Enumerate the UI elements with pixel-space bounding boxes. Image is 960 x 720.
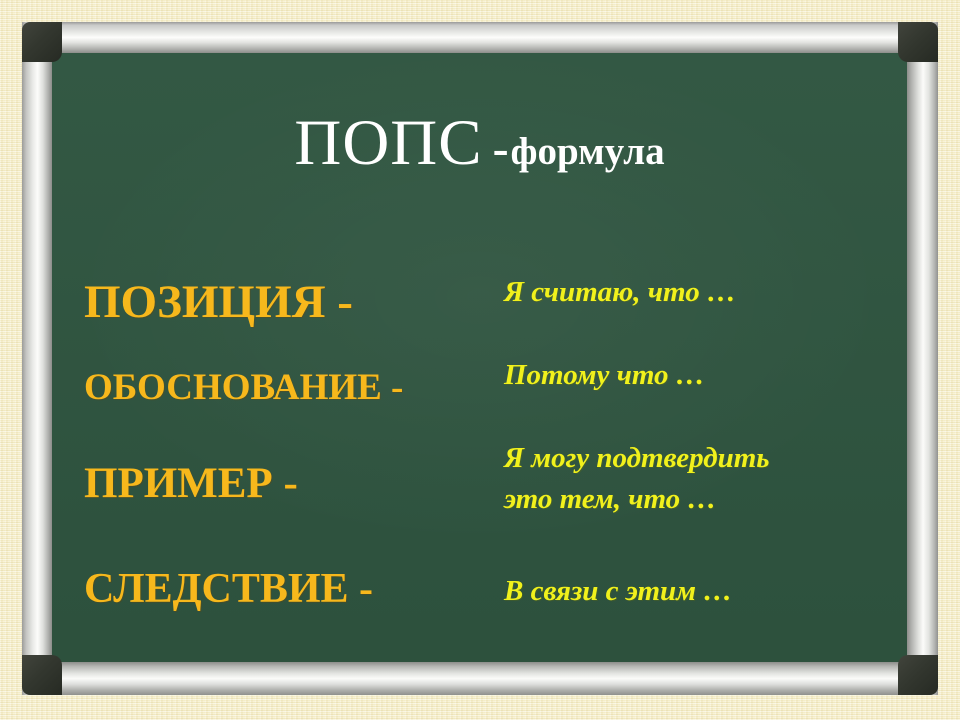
frame-rail-left [22,22,52,695]
whiteboard-frame: ПОПС-формула ПОЗИЦИЯ - Я считаю, что … О… [22,22,938,695]
formula-rows: ПОЗИЦИЯ - Я считаю, что … ОБОСНОВАНИЕ - … [52,53,907,662]
phrase-line: Потому что … [504,355,705,396]
phrase-line: Я считаю, что … [504,272,736,313]
frame-corner-cap-top-left [22,22,62,62]
phrase-line: это тем, что … [504,479,884,520]
frame-corner-cap-bottom-right [898,655,938,695]
row-label-primer: ПРИМЕР - [84,459,298,508]
row-label-sledstvie: СЛЕДСТВИЕ - [84,565,373,613]
phrase-line: Я могу подтвердить [504,438,884,479]
row-phrase-poziciya: Я считаю, что … [504,272,736,313]
row-phrase-primer: Я могу подтвердить это тем, что … [504,438,884,520]
chalkboard-surface: ПОПС-формула ПОЗИЦИЯ - Я считаю, что … О… [52,53,907,662]
frame-rail-right [907,22,938,695]
frame-rail-top [22,22,938,53]
row-label-obosnovanie: ОБОСНОВАНИЕ - [84,366,403,409]
phrase-line: В связи с этим … [504,571,732,612]
frame-corner-cap-top-right [898,22,938,62]
frame-rail-bottom [22,662,938,695]
frame-corner-cap-bottom-left [22,655,62,695]
wall-background: ПОПС-формула ПОЗИЦИЯ - Я считаю, что … О… [0,0,960,720]
row-label-poziciya: ПОЗИЦИЯ - [84,275,353,329]
row-phrase-sledstvie: В связи с этим … [504,571,732,612]
row-phrase-obosnovanie: Потому что … [504,355,705,396]
